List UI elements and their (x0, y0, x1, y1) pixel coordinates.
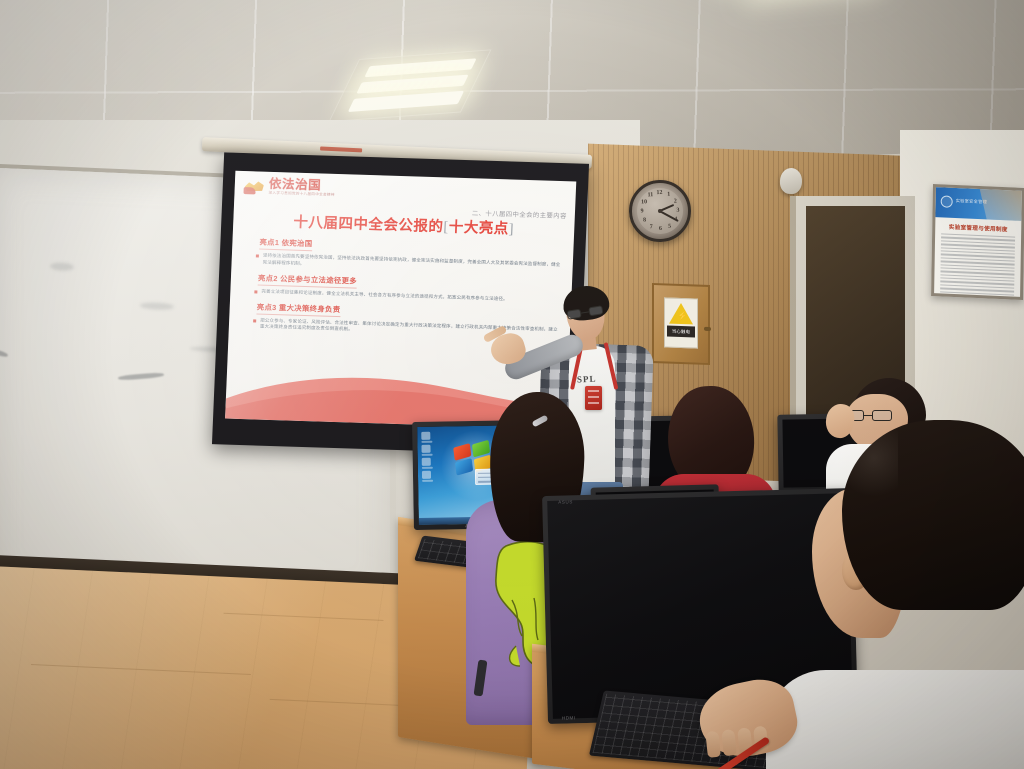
electrical-warning-sign: 当心触电 (664, 297, 698, 348)
clock-numeral: 2 (674, 199, 677, 205)
poster-band-text: 实验室安全管理 (956, 198, 988, 205)
slide-point-heading: 亮点1 依宪治国 (259, 236, 312, 251)
clock-numeral: 6 (659, 226, 662, 232)
warning-triangle-icon (669, 303, 693, 325)
clock-face: 12 1 2 3 4 5 6 7 8 9 10 11 (636, 187, 683, 234)
slide-point-heading: 亮点3 重大决策终身负责 (256, 301, 340, 317)
slide-point-heading: 亮点2 公民参与立法途径更多 (258, 272, 358, 288)
poster-header-band: 实验室安全管理 (935, 187, 1021, 221)
lab-rules-poster: 实验室安全管理 实验室管理与使用制度 (931, 184, 1024, 300)
slide-logo-sub: 深入学习贯彻党的十八届四中全会精神 (268, 192, 334, 198)
clock-numeral: 8 (643, 217, 646, 223)
slide-title-bracket-text: 十大亮点 (448, 219, 509, 237)
warning-label: 当心触电 (667, 326, 695, 338)
desktop-icon[interactable] (422, 471, 431, 479)
student-clothing (766, 670, 1024, 769)
tshirt-print: SPL (577, 373, 597, 384)
poster-body-lines (934, 233, 1021, 300)
clock-numeral: 12 (656, 190, 662, 196)
clock-numeral: 3 (676, 207, 679, 213)
poster-seal-icon (941, 195, 953, 208)
clock-numeral: 1 (667, 192, 670, 198)
classroom-photo: 12 1 2 3 4 5 6 7 8 9 10 11 当心触电 (0, 0, 1024, 769)
student-foreground (806, 420, 1024, 769)
slide-title-bracket-close: ] (508, 221, 514, 237)
clock-numeral: 5 (668, 223, 671, 229)
cabinet-door[interactable]: 当心触电 (652, 283, 710, 365)
poster-title: 实验室管理与使用制度 (935, 222, 1021, 234)
party-emblem-icon (243, 178, 265, 195)
clock-numeral: 11 (647, 193, 653, 199)
desktop-icons[interactable] (421, 432, 431, 479)
clock-numeral: 10 (641, 200, 647, 206)
clock-center-pin (658, 209, 662, 213)
door-handle[interactable] (704, 327, 711, 331)
slide-logo-text: 依法治国 深入学习贯彻党的十八届四中全会精神 (268, 178, 335, 198)
desktop-icon[interactable] (421, 445, 430, 453)
student-hair (842, 420, 1024, 610)
clock-numeral: 7 (650, 224, 653, 230)
slide-title-main: 十八届四中全会公报的 (293, 214, 444, 235)
slide-logo: 依法治国 深入学习贯彻党的十八届四中全会精神 (243, 177, 567, 205)
warning-label-text: 当心触电 (672, 328, 690, 335)
desktop-icon[interactable] (422, 458, 431, 466)
desktop-icon[interactable] (421, 432, 430, 440)
clock-numeral: 9 (640, 208, 643, 214)
roller-brand-label (320, 147, 362, 153)
monitor-port-label: HDMI (562, 715, 576, 720)
monitor-top-label: ASUS (558, 499, 573, 504)
